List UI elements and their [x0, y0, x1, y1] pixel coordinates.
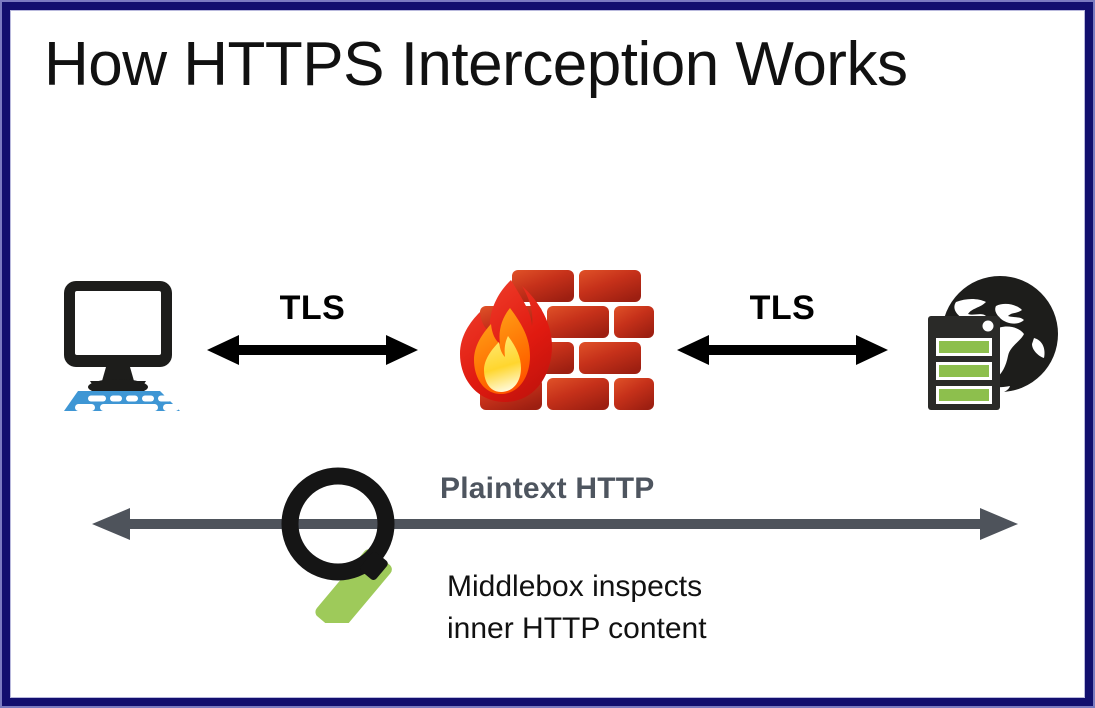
magnifying-glass-icon: [276, 458, 441, 623]
link-plaintext-http: [90, 504, 1020, 544]
double-arrow-icon: [90, 504, 1020, 544]
double-arrow-icon: [675, 332, 890, 368]
tls-right-label: TLS: [675, 288, 890, 328]
plaintext-http-label: Plaintext HTTP: [440, 472, 655, 506]
firewall-icon: [448, 262, 663, 414]
tls-left-label: TLS: [205, 288, 420, 328]
link-tls-left: TLS: [205, 288, 420, 368]
node-middlebox: [448, 262, 663, 414]
link-tls-right: TLS: [675, 288, 890, 368]
caption-line-1: Middlebox inspects: [447, 566, 707, 608]
desktop-computer-icon: [48, 275, 196, 415]
slide-canvas: How HTTPS Interception Works: [0, 0, 1095, 708]
caption-line-2: inner HTTP content: [447, 608, 707, 650]
page-title: How HTTPS Interception Works: [44, 26, 907, 104]
node-client: [48, 275, 196, 415]
server-rack-icon: [928, 316, 1000, 410]
node-server: [912, 262, 1064, 414]
double-arrow-icon: [205, 332, 420, 368]
magnifier-caption: Middlebox inspects inner HTTP content: [447, 566, 707, 650]
web-server-globe-icon: [912, 262, 1064, 414]
magnifying-glass: [276, 458, 441, 623]
